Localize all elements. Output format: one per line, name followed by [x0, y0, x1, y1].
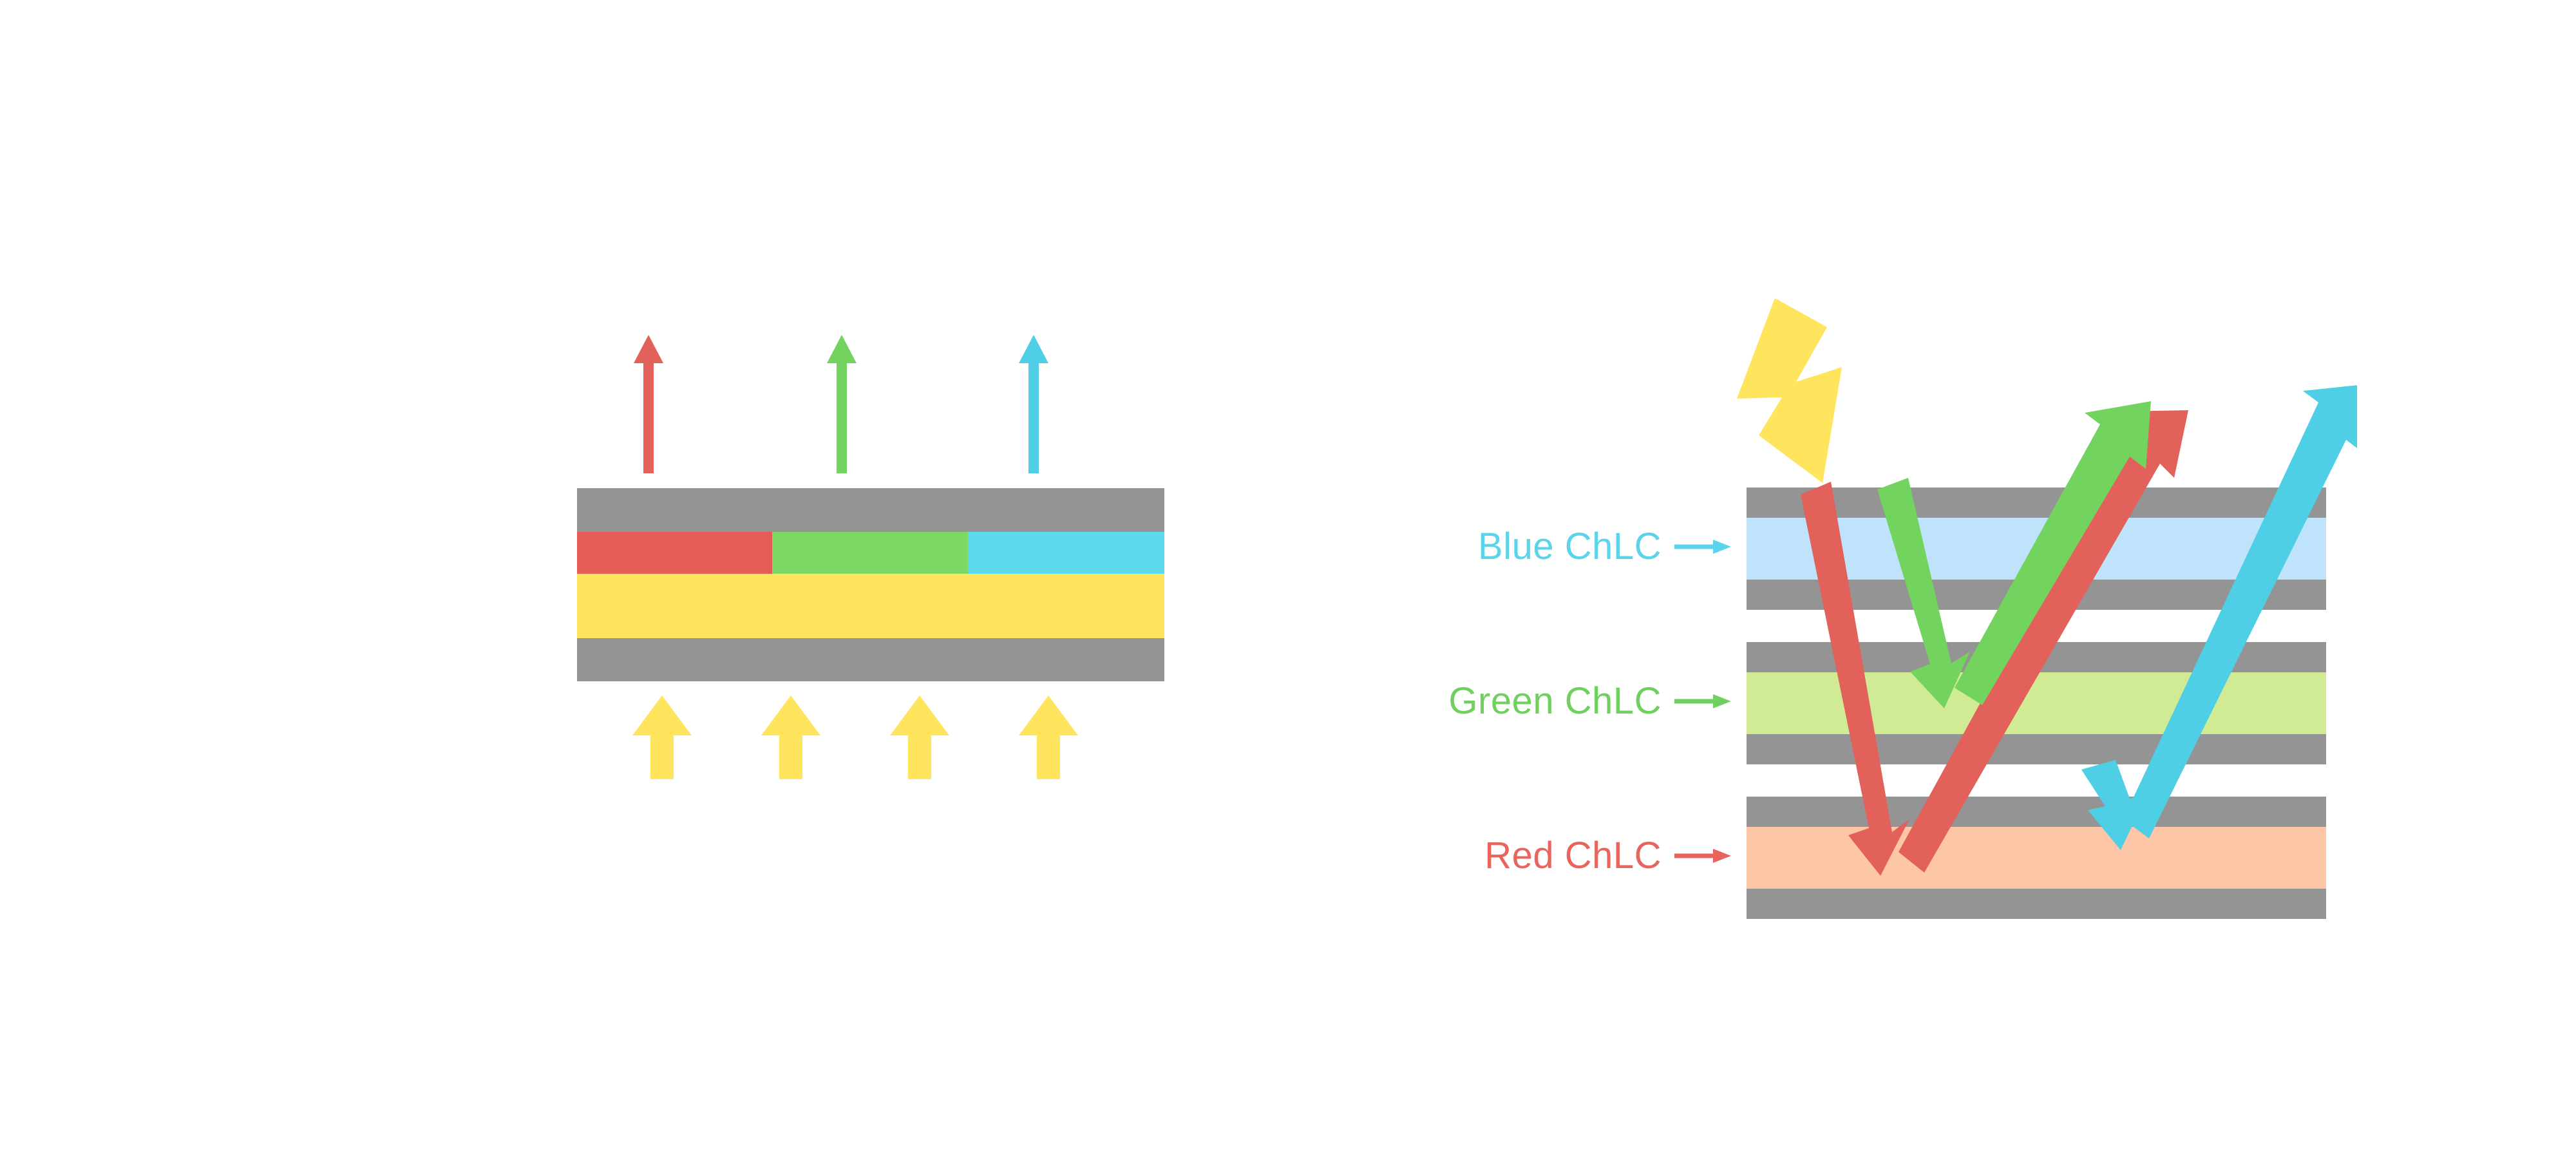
emitted-green-arrow-icon	[823, 335, 860, 473]
incident-white-light-arrow-icon	[1737, 298, 1842, 483]
blue-label-arrow-icon	[1673, 534, 1732, 560]
backlight-arrow-3-icon	[890, 695, 949, 779]
red-chlc-cell	[1747, 797, 2326, 919]
green-chlc-cell	[1747, 642, 2326, 764]
green-chlc-layer	[1747, 672, 2326, 734]
emitted-red-arrow-icon	[630, 335, 667, 473]
red-chlc-label: Red ChLC	[1404, 837, 1732, 875]
red-chlc-label-text: Red ChLC	[1484, 837, 1662, 875]
left-layer-stack	[577, 488, 1164, 681]
backlight-arrow-1-icon	[632, 695, 692, 779]
top-electrode-layer	[577, 488, 1164, 532]
color-filter-red	[577, 532, 772, 574]
blue-chlc-label: Blue ChLC	[1404, 528, 1732, 565]
green-cell-top-electrode	[1747, 642, 2326, 672]
emitted-cyan-arrow-icon	[1015, 335, 1052, 473]
left-panel-transmissive-stack	[577, 335, 1164, 799]
color-filter-row	[577, 532, 1164, 574]
reflected-blue-ray-arrow-icon	[2123, 384, 2357, 838]
backlight-arrow-2-icon	[761, 695, 820, 779]
green-chlc-label: Green ChLC	[1404, 683, 1732, 720]
red-cell-top-electrode	[1747, 797, 2326, 827]
color-filter-green	[772, 532, 968, 574]
blue-chlc-layer	[1747, 518, 2326, 580]
bottom-electrode-layer	[577, 638, 1164, 681]
red-chlc-layer	[1747, 827, 2326, 889]
green-cell-bottom-electrode	[1747, 734, 2326, 764]
backlight-arrow-4-icon	[1019, 695, 1078, 779]
blue-cell-top-electrode	[1747, 487, 2326, 518]
red-cell-bottom-electrode	[1747, 889, 2326, 919]
green-label-arrow-icon	[1673, 688, 1732, 714]
blue-cell-bottom-electrode	[1747, 580, 2326, 610]
color-filter-cyan	[968, 532, 1164, 574]
red-label-arrow-icon	[1673, 843, 1732, 869]
right-panel-reflective-stack: Blue ChLC Green ChLC Red ChLC	[1404, 270, 2357, 889]
blue-chlc-label-text: Blue ChLC	[1478, 528, 1662, 565]
backlight-layer	[577, 574, 1164, 638]
blue-chlc-cell	[1747, 487, 2326, 610]
green-chlc-label-text: Green ChLC	[1448, 683, 1662, 720]
diagram-canvas: Blue ChLC Green ChLC Red ChLC	[0, 0, 2576, 1154]
